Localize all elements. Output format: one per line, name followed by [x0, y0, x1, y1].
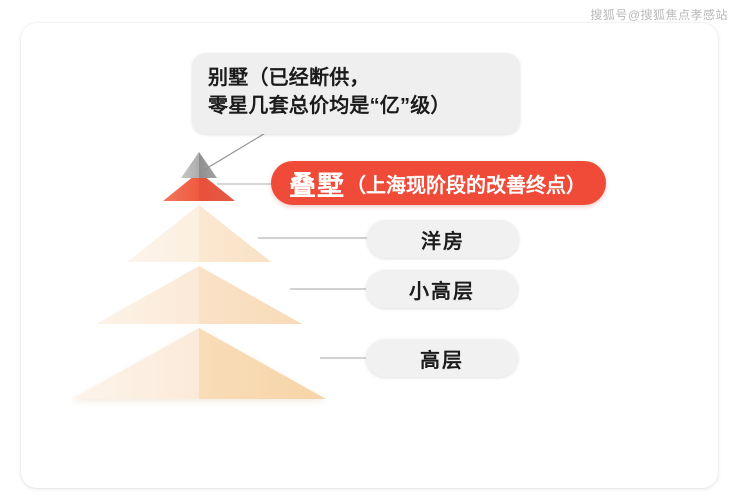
- callout-dieshu[interactable]: 叠墅 （上海现阶段的改善终点）: [271, 161, 606, 205]
- callout-bieshu-line2: 零星几套总价均是“亿”级）: [208, 92, 504, 120]
- callout-dieshu-note: （上海现阶段的改善终点）: [346, 169, 586, 198]
- label-pill-xiaogaoceng[interactable]: 小高层: [366, 270, 518, 308]
- label-pill-gaoceng[interactable]: 高层: [366, 339, 518, 377]
- callout-dieshu-title: 叠墅: [289, 164, 345, 203]
- watermark-label: 搜狐号@搜狐焦点孝感站: [590, 6, 728, 23]
- callout-bieshu[interactable]: 别墅（已经断供， 零星几套总价均是“亿”级）: [192, 53, 520, 134]
- label-pill-yangfang[interactable]: 洋房: [367, 220, 519, 258]
- screenshot-root: 搜狐号@搜狐焦点孝感站: [0, 0, 740, 502]
- callout-bieshu-line1: 别墅（已经断供，: [208, 64, 504, 92]
